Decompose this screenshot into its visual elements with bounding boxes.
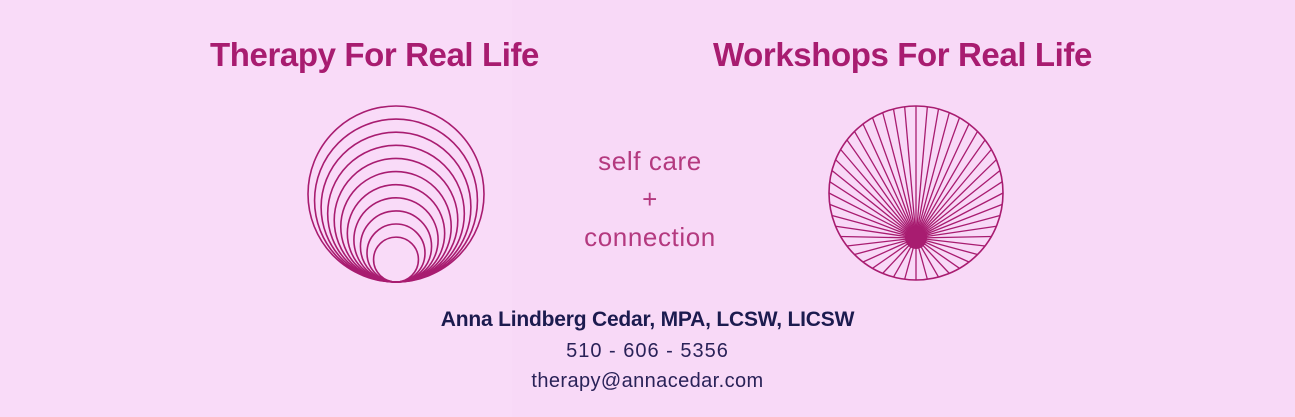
sunburst-icon bbox=[822, 105, 1012, 283]
nested-tangent-circles-icon bbox=[298, 104, 494, 286]
phone-number[interactable]: 510 - 606 - 5356 bbox=[0, 336, 1295, 366]
email-address[interactable]: therapy@annacedar.com bbox=[0, 366, 1295, 396]
heading-therapy-for-real-life: Therapy For Real Life bbox=[210, 38, 539, 71]
tagline-line-connection: connection bbox=[510, 218, 790, 256]
tagline-line-self-care: self care bbox=[510, 142, 790, 180]
contact-block: Anna Lindberg Cedar, MPA, LCSW, LICSW 51… bbox=[0, 306, 1295, 396]
promotional-banner: Therapy For Real Life Workshops For Real… bbox=[0, 0, 1295, 417]
heading-workshops-for-real-life: Workshops For Real Life bbox=[713, 38, 1092, 71]
tagline-line-plus: + bbox=[510, 180, 790, 218]
practitioner-name: Anna Lindberg Cedar, MPA, LCSW, LICSW bbox=[0, 306, 1295, 334]
tagline-block: self care + connection bbox=[510, 142, 790, 256]
